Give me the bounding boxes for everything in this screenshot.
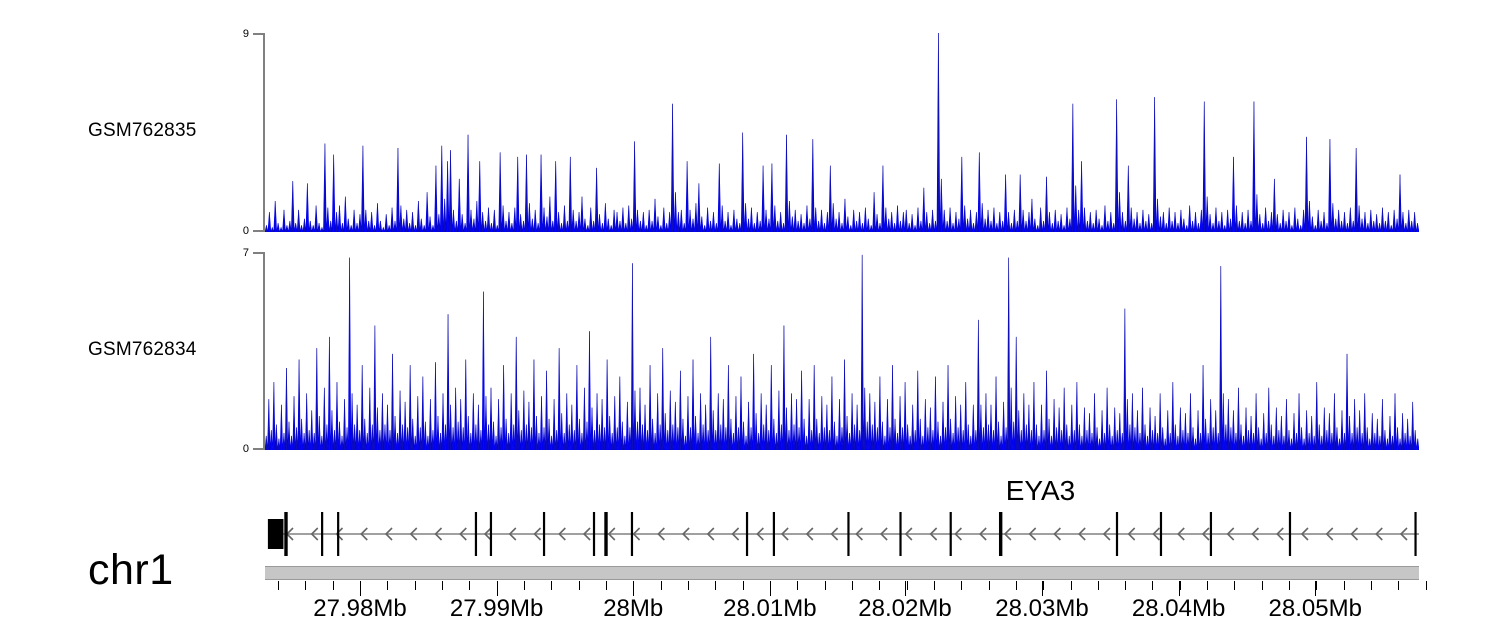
axis-minor-tick [1071,581,1072,590]
axis-minor-tick [442,581,443,590]
axis-minor-tick [852,581,853,590]
track-label-gsm762834: GSM762834 [88,339,238,361]
axis-minor-tick [825,581,826,590]
axis-minor-tick [579,581,580,590]
axis-minor-tick [333,581,334,590]
axis-minor-tick [1344,581,1345,590]
axis-major-tick [1179,581,1180,596]
axis-minor-tick [1125,581,1126,590]
genome-coordinate-axis[interactable]: 27.98Mb27.99Mb28Mb28.01Mb28.02Mb28.03Mb2… [265,566,1419,636]
axis-minor-tick [1262,581,1263,590]
coverage-track-gsm762834[interactable] [265,252,1419,450]
axis-minor-tick [934,581,935,590]
coverage-track-gsm762835[interactable] [265,33,1419,232]
axis-minor-tick [551,581,552,590]
axis-major-tick [1042,581,1043,596]
coverage-signal-gsm762835 [265,33,1419,232]
axis-minor-tick [1371,581,1372,590]
axis-major-tick [633,581,634,596]
axis-tick-label: 28.01Mb [723,597,816,621]
y-axis-label-max: 9 [243,29,249,40]
axis-minor-tick [688,581,689,590]
axis-minor-tick [1398,581,1399,590]
gene-annotation-track[interactable] [265,505,1419,563]
axis-minor-tick [524,581,525,590]
axis-minor-tick [715,581,716,590]
axis-minor-tick [879,581,880,590]
axis-minor-tick [797,581,798,590]
axis-major-tick [360,581,361,596]
axis-minor-tick [743,581,744,590]
axis-minor-tick [1098,581,1099,590]
axis-tick-label: 28.02Mb [858,597,951,621]
axis-minor-tick [387,581,388,590]
axis-tick-label: 27.98Mb [313,597,406,621]
axis-major-tick [1315,581,1316,596]
track-label-gsm762835: GSM762835 [88,120,238,142]
gene-model-eya3[interactable] [265,505,1419,563]
axis-minor-tick [661,581,662,590]
gene-label-eya3: EYA3 [1006,477,1076,505]
axis-major-tick [497,581,498,596]
axis-tick-label: 28.04Mb [1132,597,1225,621]
axis-tick-label: 28.03Mb [995,597,1088,621]
gene-name-container: EYA3 [265,477,1419,507]
axis-tick-label: 28.05Mb [1269,597,1362,621]
y-axis-tick-max [253,33,265,35]
axis-bar [265,566,1419,580]
axis-major-tick [770,581,771,596]
genome-browser-view: GSM762835 9 0 GSM762834 7 0 EYA3 chr1 [0,0,1500,640]
axis-minor-tick [1043,581,1044,590]
coverage-plot-area [265,33,1419,232]
coverage-plot-area [265,252,1419,450]
axis-minor-tick [1316,581,1317,590]
axis-tick-label: 28Mb [603,597,663,621]
axis-minor-tick [469,581,470,590]
y-axis-label-min: 0 [243,444,249,455]
axis-minor-tick [1016,581,1017,590]
axis-minor-tick [415,581,416,590]
axis-minor-tick [1152,581,1153,590]
axis-major-tick [905,581,906,596]
axis-minor-tick [1289,581,1290,590]
axis-minor-tick [1180,581,1181,590]
axis-minor-tick [961,581,962,590]
y-axis-tick-min [253,448,265,450]
chromosome-title: chr1 [88,549,174,592]
y-axis-tick-min [253,230,265,232]
axis-minor-tick [989,581,990,590]
axis-minor-tick [606,581,607,590]
y-axis-tick-max [253,252,265,254]
axis-minor-tick [278,581,279,590]
axis-minor-tick [305,581,306,590]
y-axis-label-max: 7 [243,248,249,259]
axis-minor-tick [1426,581,1427,590]
coverage-signal-gsm762834 [265,252,1419,450]
axis-minor-tick [1207,581,1208,590]
y-axis-label-min: 0 [243,226,249,237]
axis-minor-tick [907,581,908,590]
axis-minor-tick [1234,581,1235,590]
axis-tick-label: 27.99Mb [450,597,543,621]
